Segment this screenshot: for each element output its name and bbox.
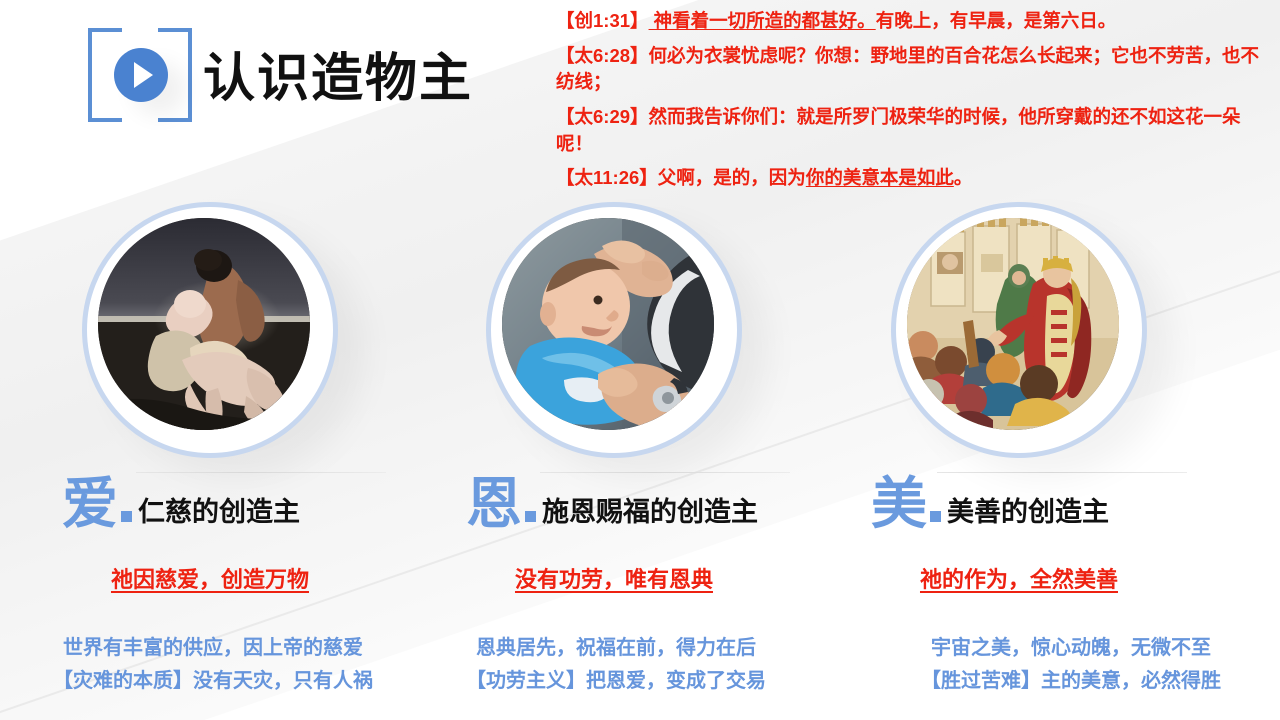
column-red-headline: 祂的作为，全然美善: [809, 562, 1229, 594]
blue-note-line: 【胜过苦难】主的美意，必然得胜: [871, 665, 1271, 698]
column-label-row: 爱 仁慈的创造主: [0, 478, 420, 530]
column-sub-label: 施恩赐福的创造主: [542, 499, 758, 530]
hand-blessing-baby-photo: [502, 218, 714, 430]
column-big-char: 恩: [466, 478, 542, 530]
column-sub-label: 仁慈的创造主: [138, 499, 300, 530]
column-blue-notes: 恩典居先，祝福在前，得力在后 【功劳主义】把恩爱，变成了交易: [406, 632, 826, 698]
column-sub-label: 美善的创造主: [947, 499, 1109, 530]
biblical-king-illustration-photo: [907, 218, 1119, 430]
column-grace: 恩 施恩赐福的创造主 没有功劳，唯有恩典 恩典居先，祝福在前，得力在后 【功劳主…: [404, 0, 824, 720]
column-love: 爱 仁慈的创造主 祂因慈爱，创造万物 世界有丰富的供应，因上帝的慈爱 【灾难的本…: [0, 0, 420, 720]
column-divider: [937, 472, 1187, 473]
column-divider: [136, 472, 386, 473]
label-dot-icon: [525, 511, 536, 522]
column-big-char: 爱: [62, 478, 138, 530]
column-red-headline: 祂因慈爱，创造万物: [0, 562, 420, 594]
column-label-row: 恩 施恩赐福的创造主: [404, 478, 824, 530]
blue-note-line: 【灾难的本质】没有天灾，只有人祸: [3, 665, 423, 698]
column-blue-notes: 宇宙之美，惊心动魄，无微不至 【胜过苦难】主的美意，必然得胜: [871, 632, 1271, 698]
photo-ring: [486, 202, 742, 458]
column-divider: [540, 472, 790, 473]
column-beauty: 美 美善的创造主 祂的作为，全然美善 宇宙之美，惊心动魄，无微不至 【胜过苦难】…: [809, 0, 1229, 720]
column-red-headline: 没有功劳，唯有恩典: [404, 562, 824, 594]
photo-ring: [891, 202, 1147, 458]
slide-canvas: 认识造物主 【创1:31】 神看着一切所造的都甚好。有晚上，有早晨，是第六日。 …: [0, 0, 1280, 720]
blue-note-line: 【功劳主义】把恩爱，变成了交易: [406, 665, 826, 698]
label-dot-icon: [121, 511, 132, 522]
photo-ring: [82, 202, 338, 458]
blue-note-line: 宇宙之美，惊心动魄，无微不至: [871, 632, 1271, 665]
column-blue-notes: 世界有丰富的供应，因上帝的慈爱 【灾难的本质】没有天灾，只有人祸: [3, 632, 423, 698]
label-dot-icon: [930, 511, 941, 522]
mourning-painting-photo: [98, 218, 310, 430]
column-big-char: 美: [871, 478, 947, 530]
blue-note-line: 世界有丰富的供应，因上帝的慈爱: [3, 632, 423, 665]
column-label-row: 美 美善的创造主: [809, 478, 1229, 530]
blue-note-line: 恩典居先，祝福在前，得力在后: [406, 632, 826, 665]
